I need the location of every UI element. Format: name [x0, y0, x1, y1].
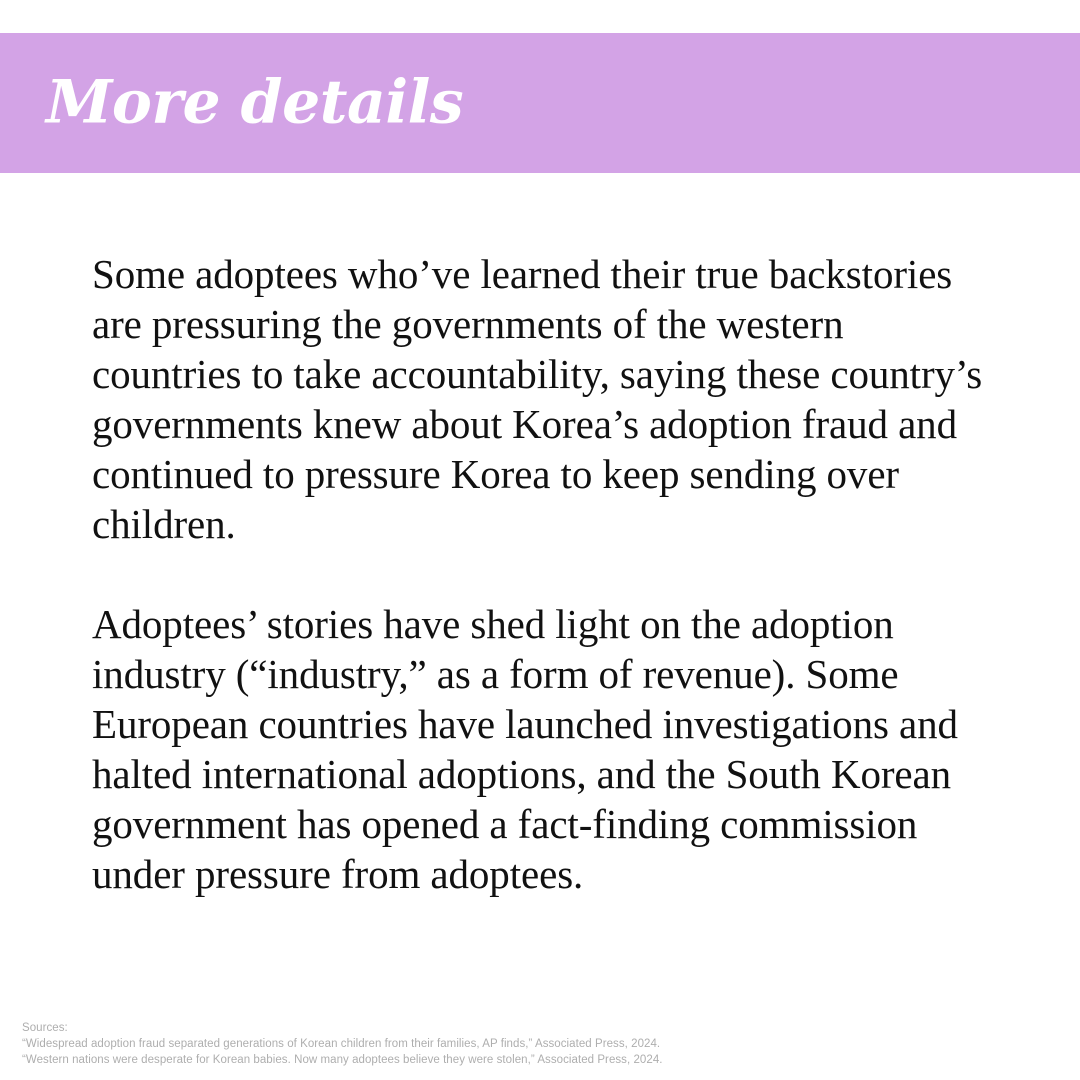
body-paragraph-2: Adoptees’ stories have shed light on the…	[92, 599, 992, 899]
body-copy: Some adoptees who’ve learned their true …	[92, 249, 992, 899]
page-title: More details	[46, 72, 463, 135]
slide-root: More details Some adoptees who’ve learne…	[0, 0, 1080, 1080]
header-band: More details	[0, 33, 1080, 173]
sources-footer: Sources: “Widespread adoption fraud sepa…	[22, 1020, 1052, 1068]
sources-entry-1: “Widespread adoption fraud separated gen…	[22, 1036, 1052, 1052]
sources-label: Sources:	[22, 1020, 1052, 1036]
sources-entry-2: “Western nations were desperate for Kore…	[22, 1052, 1052, 1068]
body-paragraph-1: Some adoptees who’ve learned their true …	[92, 249, 992, 549]
